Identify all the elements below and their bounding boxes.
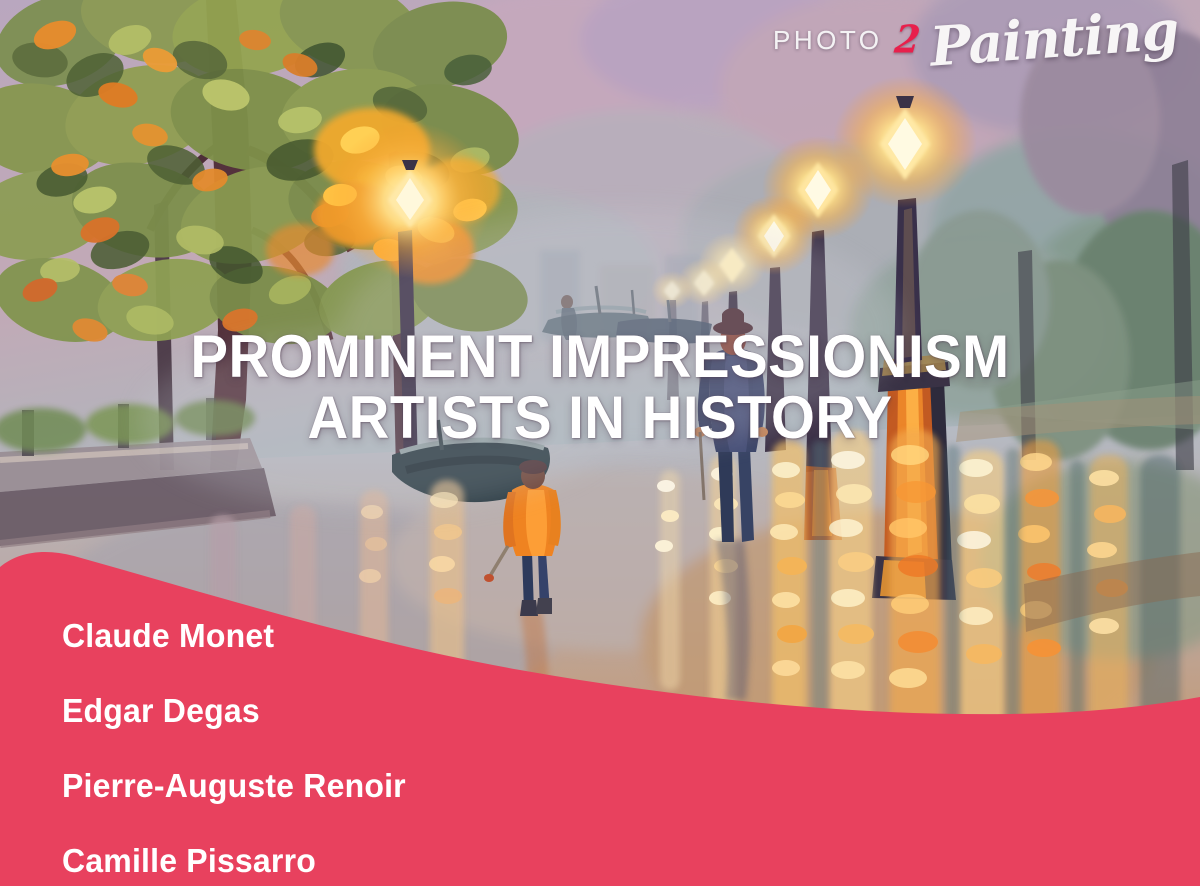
brand-logo[interactable]: PHOTO 2 Painting: [773, 16, 1178, 65]
logo-two-glyph: 2: [893, 21, 922, 59]
logo-photo-word: PHOTO: [773, 27, 882, 53]
list-item[interactable]: Edgar Degas: [62, 673, 406, 748]
list-item[interactable]: Camille Pissarro: [62, 823, 406, 886]
page-title: PROMINENT IMPRESSIONISM ARTISTS IN HISTO…: [36, 326, 1164, 448]
page-title-line-1: PROMINENT IMPRESSIONISM: [79, 326, 1121, 387]
page-title-line-2: ARTISTS IN HISTORY: [79, 387, 1121, 448]
artist-list: Claude Monet Edgar Degas Pierre-Auguste …: [62, 598, 416, 886]
list-item[interactable]: Pierre-Auguste Renoir: [62, 748, 406, 823]
list-item[interactable]: Claude Monet: [62, 598, 406, 673]
poster-canvas: PHOTO 2 Painting PROMINENT IMPRESSIONISM…: [0, 0, 1200, 886]
logo-painting-word: Painting: [928, 5, 1179, 71]
